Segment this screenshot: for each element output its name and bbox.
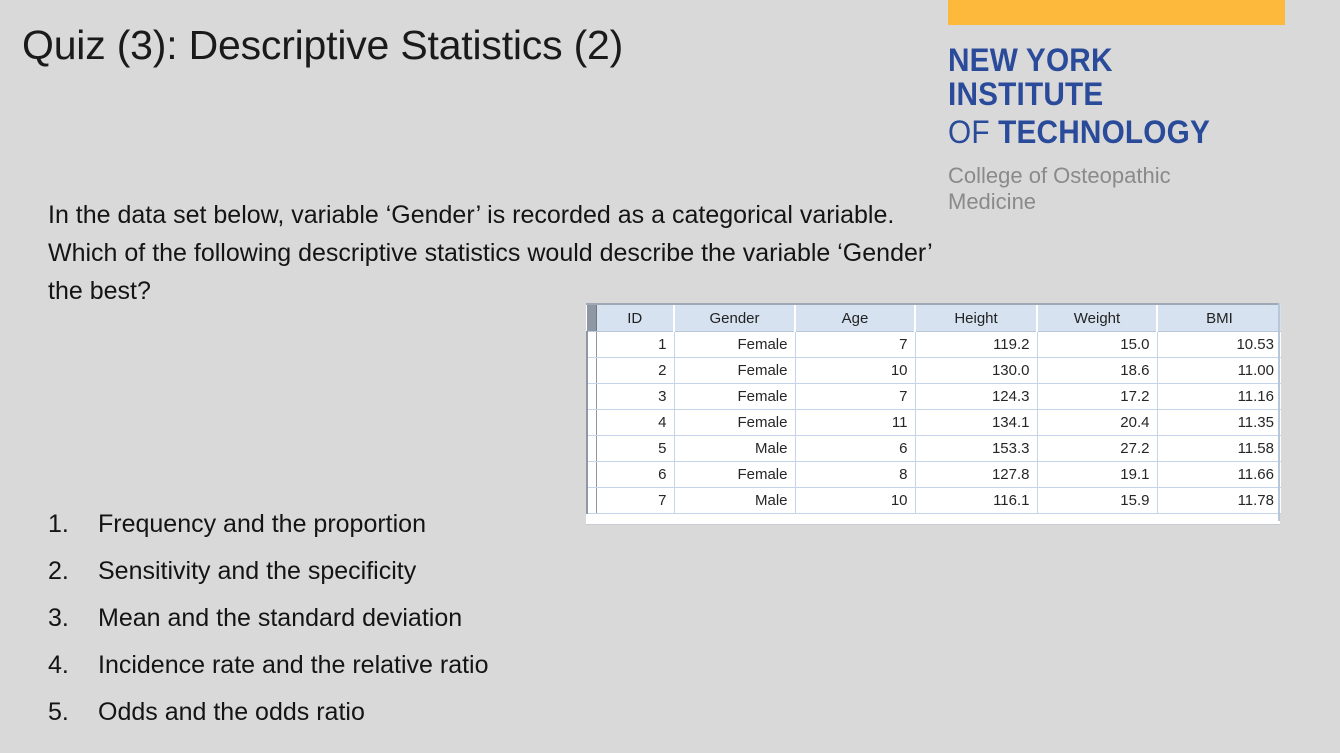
- option-label: Odds and the odds ratio: [98, 689, 668, 736]
- cell-age[interactable]: 7: [795, 384, 915, 410]
- answer-option-1[interactable]: 1. Frequency and the proportion: [48, 501, 668, 548]
- cell-height[interactable]: 130.0: [915, 358, 1037, 384]
- cell-gender[interactable]: Female: [674, 384, 795, 410]
- cell-age[interactable]: 11: [795, 410, 915, 436]
- cell-bmi[interactable]: 11.78: [1157, 488, 1281, 514]
- page-title: Quiz (3): Descriptive Statistics (2): [22, 20, 902, 70]
- table-body: 1 Female 7 119.2 15.0 10.53 2 Female 10 …: [587, 332, 1281, 514]
- dataset-table: ID Gender Age Height Weight BMI 1 Female…: [586, 305, 1281, 514]
- row-marker: [587, 410, 596, 436]
- logo-line-2: OF TECHNOLOGY: [948, 115, 1264, 149]
- table-right-border: [1278, 303, 1280, 525]
- cell-gender[interactable]: Female: [674, 410, 795, 436]
- table-row[interactable]: 2 Female 10 130.0 18.6 11.00: [587, 358, 1281, 384]
- cell-height[interactable]: 127.8: [915, 462, 1037, 488]
- logo-of-text: OF: [948, 114, 998, 150]
- table-row[interactable]: 3 Female 7 124.3 17.2 11.16: [587, 384, 1281, 410]
- cell-age[interactable]: 7: [795, 332, 915, 358]
- answer-options-list: 1. Frequency and the proportion 2. Sensi…: [48, 501, 668, 736]
- row-marker: [587, 384, 596, 410]
- cell-height[interactable]: 119.2: [915, 332, 1037, 358]
- table-row[interactable]: 1 Female 7 119.2 15.0 10.53: [587, 332, 1281, 358]
- cell-bmi[interactable]: 11.16: [1157, 384, 1281, 410]
- column-header-id[interactable]: ID: [596, 305, 674, 332]
- cell-weight[interactable]: 19.1: [1037, 462, 1157, 488]
- row-marker: [587, 332, 596, 358]
- answer-option-2[interactable]: 2. Sensitivity and the specificity: [48, 548, 668, 595]
- data-table-container: ID Gender Age Height Weight BMI 1 Female…: [586, 303, 1280, 525]
- cell-bmi[interactable]: 11.58: [1157, 436, 1281, 462]
- cell-gender[interactable]: Female: [674, 332, 795, 358]
- cell-id[interactable]: 2: [596, 358, 674, 384]
- question-line-1: In the data set below, variable ‘Gender’…: [48, 196, 1248, 234]
- cell-age[interactable]: 10: [795, 488, 915, 514]
- logo-wordmark: NEW YORK INSTITUTE OF TECHNOLOGY: [948, 43, 1264, 149]
- row-marker: [587, 436, 596, 462]
- cell-weight[interactable]: 18.6: [1037, 358, 1157, 384]
- cell-bmi[interactable]: 11.35: [1157, 410, 1281, 436]
- table-row[interactable]: 6 Female 8 127.8 19.1 11.66: [587, 462, 1281, 488]
- column-header-weight[interactable]: Weight: [1037, 305, 1157, 332]
- row-marker: [587, 488, 596, 514]
- question-text: In the data set below, variable ‘Gender’…: [48, 196, 1248, 310]
- cell-gender[interactable]: Male: [674, 488, 795, 514]
- answer-option-4[interactable]: 4. Incidence rate and the relative ratio: [48, 642, 668, 689]
- cell-bmi[interactable]: 10.53: [1157, 332, 1281, 358]
- column-header-age[interactable]: Age: [795, 305, 915, 332]
- cell-gender[interactable]: Female: [674, 358, 795, 384]
- option-number: 5.: [48, 689, 98, 736]
- cell-weight[interactable]: 15.9: [1037, 488, 1157, 514]
- cell-weight[interactable]: 20.4: [1037, 410, 1157, 436]
- table-bottom-border: [586, 521, 1280, 525]
- option-number: 4.: [48, 642, 98, 689]
- option-number: 1.: [48, 501, 98, 548]
- cell-id[interactable]: 1: [596, 332, 674, 358]
- option-number: 3.: [48, 595, 98, 642]
- cell-height[interactable]: 134.1: [915, 410, 1037, 436]
- cell-age[interactable]: 6: [795, 436, 915, 462]
- column-header-bmi[interactable]: BMI: [1157, 305, 1281, 332]
- logo-technology-text: TECHNOLOGY: [998, 114, 1210, 150]
- table-row[interactable]: 5 Male 6 153.3 27.2 11.58: [587, 436, 1281, 462]
- cell-gender[interactable]: Female: [674, 462, 795, 488]
- cell-id[interactable]: 7: [596, 488, 674, 514]
- row-marker: [587, 358, 596, 384]
- column-header-gender[interactable]: Gender: [674, 305, 795, 332]
- slide-canvas: Quiz (3): Descriptive Statistics (2) NEW…: [0, 0, 1340, 753]
- cell-age[interactable]: 10: [795, 358, 915, 384]
- cell-weight[interactable]: 15.0: [1037, 332, 1157, 358]
- option-label: Frequency and the proportion: [98, 501, 668, 548]
- column-header-height[interactable]: Height: [915, 305, 1037, 332]
- cell-id[interactable]: 5: [596, 436, 674, 462]
- table-row[interactable]: 4 Female 11 134.1 20.4 11.35: [587, 410, 1281, 436]
- option-label: Incidence rate and the relative ratio: [98, 642, 668, 689]
- table-header-row: ID Gender Age Height Weight BMI: [587, 305, 1281, 332]
- cell-weight[interactable]: 17.2: [1037, 384, 1157, 410]
- logo-accent-bar: [948, 0, 1285, 25]
- row-marker: [587, 462, 596, 488]
- nyit-logo: NEW YORK INSTITUTE OF TECHNOLOGY College…: [948, 0, 1288, 215]
- cell-weight[interactable]: 27.2: [1037, 436, 1157, 462]
- table-row[interactable]: 7 Male 10 116.1 15.9 11.78: [587, 488, 1281, 514]
- logo-line-1: NEW YORK INSTITUTE: [948, 43, 1264, 111]
- answer-option-5[interactable]: 5. Odds and the odds ratio: [48, 689, 668, 736]
- cell-id[interactable]: 3: [596, 384, 674, 410]
- cell-bmi[interactable]: 11.00: [1157, 358, 1281, 384]
- row-marker-header: [587, 305, 596, 332]
- cell-age[interactable]: 8: [795, 462, 915, 488]
- cell-height[interactable]: 153.3: [915, 436, 1037, 462]
- cell-height[interactable]: 124.3: [915, 384, 1037, 410]
- cell-id[interactable]: 4: [596, 410, 674, 436]
- option-number: 2.: [48, 548, 98, 595]
- answer-option-3[interactable]: 3. Mean and the standard deviation: [48, 595, 668, 642]
- cell-gender[interactable]: Male: [674, 436, 795, 462]
- question-line-2: Which of the following descriptive stati…: [48, 234, 1248, 272]
- option-label: Mean and the standard deviation: [98, 595, 668, 642]
- option-label: Sensitivity and the specificity: [98, 548, 668, 595]
- cell-id[interactable]: 6: [596, 462, 674, 488]
- cell-bmi[interactable]: 11.66: [1157, 462, 1281, 488]
- cell-height[interactable]: 116.1: [915, 488, 1037, 514]
